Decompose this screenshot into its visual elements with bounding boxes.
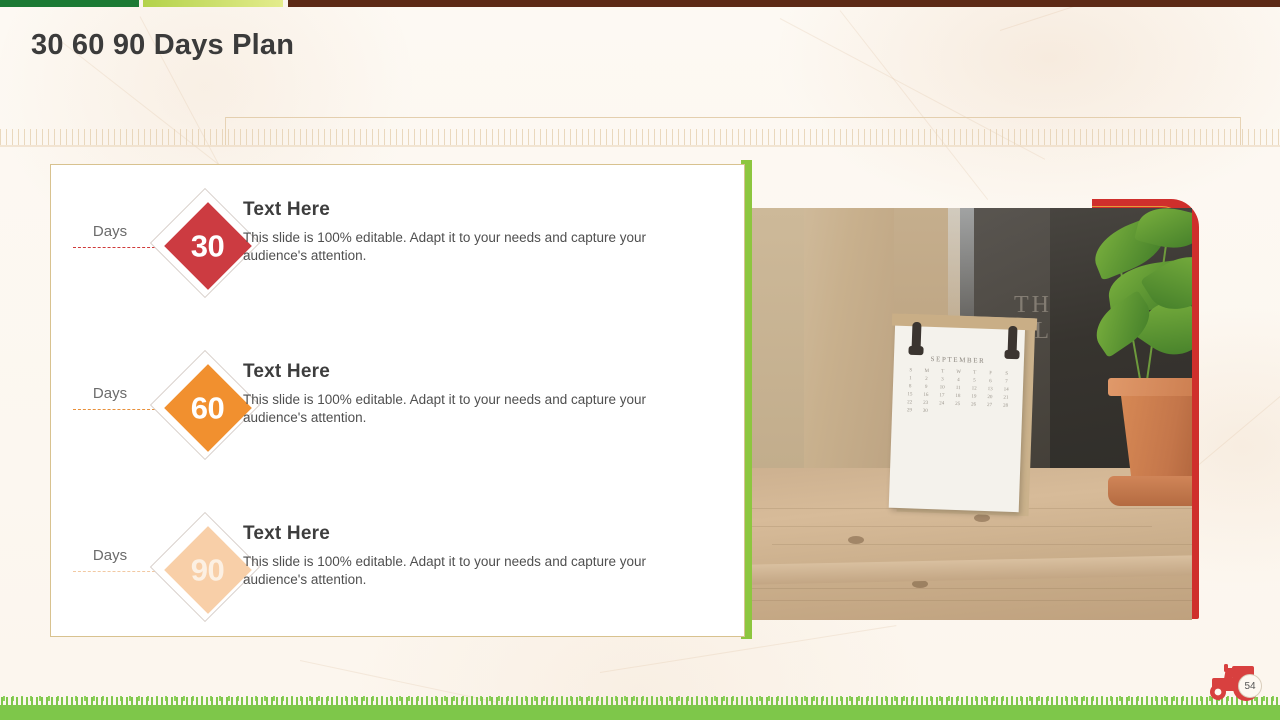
photo-wood-grain: [772, 544, 1192, 545]
photo-calendar-weekday: F: [983, 371, 999, 377]
grass-strip: [0, 705, 1280, 720]
photo-calendar-weekday: S: [999, 371, 1015, 377]
topbar-segment-lime: [143, 0, 283, 7]
photo-flower-pot-rim: [1108, 378, 1192, 396]
photo-calendar-clip-left: [911, 322, 921, 352]
plan-heading-60: Text Here: [243, 361, 713, 383]
plan-body-60: This slide is 100% editable. Adapt it to…: [243, 391, 663, 427]
days-connector-60: [73, 409, 155, 410]
grass-blades: [0, 697, 1280, 705]
photo-wood-grain: [752, 588, 1192, 589]
photo-calendar-plant: THAL SEPTEMBER SMTWTFS123456789101112131…: [752, 208, 1192, 620]
days-label-60: Days: [79, 385, 141, 402]
photo-calendar-day: 2: [918, 377, 934, 383]
plan-text-block-30: Text Here This slide is 100% editable. A…: [243, 199, 713, 265]
photo-calendar-day: 7: [998, 379, 1014, 385]
photo-calendar-day: 9: [918, 385, 934, 391]
photo-wood-knot: [848, 536, 864, 544]
topbar-segment-brown: [288, 0, 1280, 7]
diamond-number-60: 60: [191, 392, 224, 423]
plan-row-90[interactable]: Days 90 Text Here This slide is 100% edi…: [51, 513, 746, 623]
page-number-badge: 54: [1238, 674, 1262, 698]
plan-heading-30: Text Here: [243, 199, 713, 221]
photo-calendar-day: 17: [934, 393, 950, 399]
photo-calendar-day: 10: [934, 385, 950, 391]
photo-calendar-day: 4: [950, 378, 966, 384]
slide-canvas: 30 60 90 Days Plan THAL SEPTEMBER SMTWTF…: [0, 0, 1280, 720]
photo-calendar-day: 21: [998, 395, 1014, 401]
photo-calendar-day: 8: [902, 384, 918, 390]
plan-text-block-90: Text Here This slide is 100% editable. A…: [243, 523, 713, 589]
photo-calendar-day: 5: [966, 378, 982, 384]
photo-calendar-day: 27: [981, 403, 997, 409]
photo-calendar-day: 26: [965, 402, 981, 408]
photo-calendar-day: 11: [950, 386, 966, 392]
photo-calendar-day: 13: [982, 387, 998, 393]
photo-wall-left-shade: [752, 208, 804, 470]
photo-wood-grain: [752, 600, 1192, 601]
diamond-number-90: 90: [191, 554, 224, 585]
plan-body-30: This slide is 100% editable. Adapt it to…: [243, 229, 663, 265]
photo-calendar-day: 6: [982, 379, 998, 385]
photo-calendar-day: 16: [918, 393, 934, 399]
photo-calendar-day: 15: [902, 392, 918, 398]
days-label-30: Days: [79, 223, 141, 240]
photo-calendar-weekday: T: [935, 369, 951, 375]
top-accent-bar: [0, 0, 1280, 7]
photo-calendar-day: 3: [934, 377, 950, 383]
topbar-segment-dark-green: [0, 0, 139, 7]
page-title: 30 60 90 Days Plan: [31, 29, 294, 62]
ruler-tick-band: [0, 129, 1280, 145]
photo-calendar-day: 24: [934, 401, 950, 407]
photo-calendar-day: 22: [902, 400, 918, 406]
content-card: Days 30 Text Here This slide is 100% edi…: [50, 164, 745, 637]
photo-calendar-day: 29: [901, 408, 917, 414]
photo-calendar-day: 23: [918, 401, 934, 407]
photo-calendar-day: 28: [997, 403, 1013, 409]
photo-calendar-day: 25: [949, 402, 965, 408]
plan-row-30[interactable]: Days 30 Text Here This slide is 100% edi…: [51, 189, 746, 299]
photo-calendar-day: 30: [917, 409, 933, 415]
photo-wood-knot: [974, 514, 990, 522]
photo-calendar-day: 14: [998, 387, 1014, 393]
plan-heading-90: Text Here: [243, 523, 713, 545]
ruler-baseline: [0, 145, 1280, 147]
photo-calendar-clip-right: [1007, 326, 1017, 356]
photo-calendar-grid: SMTWTFS123456789101112131415161718192021…: [901, 368, 1015, 417]
photo-wood-grain: [752, 526, 1152, 527]
days-connector-90: [73, 571, 155, 572]
photo-calendar-weekday: W: [951, 370, 967, 376]
diamond-number-30: 30: [191, 230, 224, 261]
photo-calendar-weekday: T: [967, 370, 983, 376]
photo-calendar-weekday: M: [919, 369, 935, 375]
photo-calendar-day: 20: [982, 395, 998, 401]
days-label-90: Days: [79, 547, 141, 564]
divider-line-horizontal: [225, 117, 1241, 118]
photo-calendar-day: 12: [966, 386, 982, 392]
plan-text-block-60: Text Here This slide is 100% editable. A…: [243, 361, 713, 427]
photo-calendar-day: 18: [950, 394, 966, 400]
texture-fiber: [840, 10, 989, 200]
days-connector-30: [73, 247, 155, 248]
photo-calendar-day: 19: [966, 394, 982, 400]
plan-row-60[interactable]: Days 60 Text Here This slide is 100% edi…: [51, 351, 746, 461]
photo-flower-pot-saucer: [1108, 476, 1192, 506]
photo-calendar-day: 1: [902, 376, 918, 382]
photo-calendar-weekday: S: [903, 368, 919, 374]
plan-body-90: This slide is 100% editable. Adapt it to…: [243, 553, 663, 589]
